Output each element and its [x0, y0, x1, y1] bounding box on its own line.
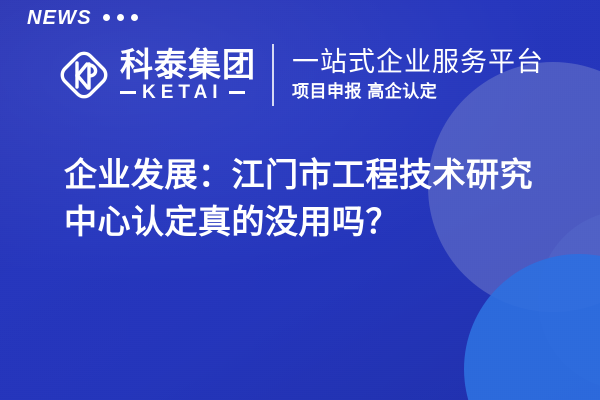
- news-kicker: NEWS: [27, 8, 138, 28]
- brand-rule-left-icon: [120, 91, 136, 94]
- ketai-logo-icon: [56, 47, 112, 103]
- news-banner: NEWS 科泰集团: [0, 0, 600, 400]
- brand-name-cn: 科泰集团: [120, 48, 256, 82]
- kicker-dot-icon: [131, 14, 138, 21]
- headline-text: 企业发展：江门市工程技术研究中心认定真的没用吗？: [64, 152, 564, 246]
- brand-divider: [272, 44, 274, 106]
- tagline-block: 一站式企业服务平台 项目申报 高企认定: [292, 47, 544, 102]
- tagline-sub: 项目申报 高企认定: [292, 81, 544, 102]
- brand-name-en: KETAI: [142, 83, 223, 102]
- news-kicker-label: NEWS: [27, 8, 92, 28]
- kicker-dot-icon: [117, 14, 124, 21]
- kicker-dot-icon: [103, 14, 110, 21]
- brand-wordmark: 科泰集团 KETAI: [120, 48, 256, 102]
- brand-row: 科泰集团 KETAI 一站式企业服务平台 项目申报 高企认定: [56, 42, 544, 108]
- brand-name-en-row: KETAI: [120, 83, 256, 102]
- brand-rule-right-icon: [229, 91, 245, 94]
- kicker-dots-icon: [103, 14, 138, 23]
- tagline-main: 一站式企业服务平台: [292, 47, 544, 78]
